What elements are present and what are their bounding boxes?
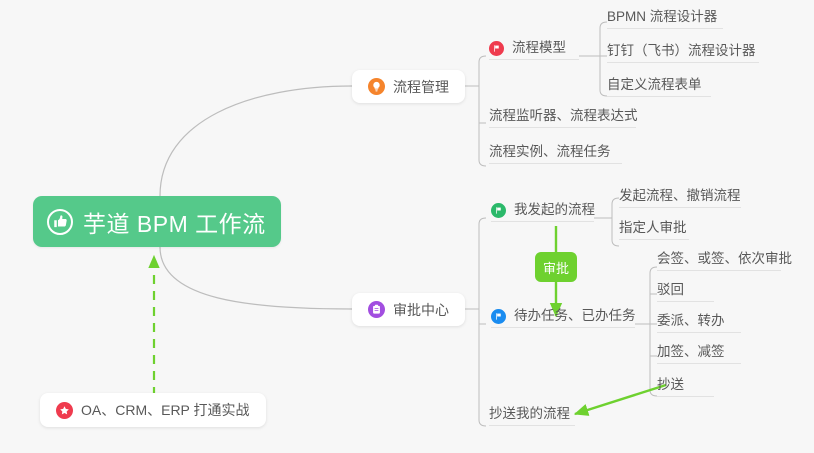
node-process-listener[interactable]: 流程监听器、流程表达式: [489, 106, 636, 128]
spine-cap-model-top: [600, 22, 607, 28]
node-cc[interactable]: 抄送: [657, 375, 714, 397]
node-label-process-listener: 流程监听器、流程表达式: [489, 104, 638, 124]
node-reject[interactable]: 驳回: [657, 280, 714, 302]
spine-cap-ac-top: [479, 218, 486, 224]
node-label-todo-done-tasks: 待办任务、已办任务: [514, 304, 636, 324]
flag-icon: [491, 203, 506, 218]
branch-node-approval-center[interactable]: 审批中心: [352, 293, 465, 326]
tag-approval[interactable]: 审批: [535, 252, 577, 282]
node-label-add-remove-sign: 加签、减签: [657, 340, 725, 360]
branch-label-process-management: 流程管理: [393, 77, 449, 97]
node-cc-my-process[interactable]: 抄送我的流程: [489, 404, 575, 426]
node-label-cc: 抄送: [657, 373, 684, 393]
spine-cap-todo-top: [650, 267, 657, 273]
node-label-multi-sign: 会签、或签、依次审批: [657, 247, 792, 267]
node-bpmn-designer[interactable]: BPMN 流程设计器: [607, 7, 723, 29]
spine-cap-mi-bottom: [612, 240, 619, 246]
node-custom-form[interactable]: 自定义流程表单: [607, 75, 711, 97]
branch-label-approval-center: 审批中心: [393, 300, 449, 320]
flag-icon: [489, 41, 504, 56]
node-label-assignee-approval: 指定人审批: [619, 216, 687, 236]
node-delegate-transfer[interactable]: 委派、转办: [657, 311, 741, 333]
node-label-process-model: 流程模型: [512, 36, 566, 56]
node-label-delegate-transfer: 委派、转办: [657, 309, 725, 329]
clipboard-icon: [368, 301, 385, 318]
root-label: 芋道 BPM 工作流: [83, 205, 266, 239]
spine-cap-todo-bottom: [650, 390, 657, 396]
node-label-cc-my-process: 抄送我的流程: [489, 402, 570, 422]
spine-cap-pm-top: [479, 56, 486, 62]
node-label-custom-form: 自定义流程表单: [607, 73, 702, 93]
node-label-process-instance: 流程实例、流程任务: [489, 140, 611, 160]
node-label-my-initiated-process: 我发起的流程: [514, 198, 595, 218]
node-todo-done-tasks[interactable]: 待办任务、已办任务: [491, 306, 635, 328]
node-my-initiated-process[interactable]: 我发起的流程: [491, 200, 594, 222]
arrow-cc-to-cc-my-process: [575, 385, 666, 414]
link-root-to-approval-center: [160, 247, 352, 309]
node-label-start-cancel-process: 发起流程、撤销流程: [619, 184, 741, 204]
spine-cap-ac-bottom: [479, 420, 486, 426]
mindmap-canvas: 芋道 BPM 工作流 流程管理 审批中心: [0, 0, 814, 453]
spine-cap-model-bottom: [600, 90, 607, 96]
footer-node-label: OA、CRM、ERP 打通实战: [81, 400, 250, 420]
star-icon: [56, 402, 73, 419]
branch-node-process-management[interactable]: 流程管理: [352, 70, 465, 103]
node-assignee-approval[interactable]: 指定人审批: [619, 218, 689, 240]
node-label-dingtalk-designer: 钉钉（飞书）流程设计器: [607, 39, 756, 59]
node-process-model[interactable]: 流程模型: [489, 38, 579, 60]
node-process-instance[interactable]: 流程实例、流程任务: [489, 142, 622, 164]
spine-cap-pm-bottom: [479, 160, 486, 166]
node-add-remove-sign[interactable]: 加签、减签: [657, 342, 741, 364]
link-root-to-process-management: [160, 86, 352, 196]
tag-label-approval: 审批: [543, 258, 569, 277]
node-multi-sign[interactable]: 会签、或签、依次审批: [657, 249, 781, 271]
node-start-cancel-process[interactable]: 发起流程、撤销流程: [619, 186, 741, 208]
footer-node-integration[interactable]: OA、CRM、ERP 打通实战: [40, 393, 266, 427]
flag-icon: [491, 309, 506, 324]
spine-cap-mi-top: [612, 198, 619, 204]
root-node[interactable]: 芋道 BPM 工作流: [33, 196, 281, 247]
node-label-reject: 驳回: [657, 278, 684, 298]
node-dingtalk-designer[interactable]: 钉钉（飞书）流程设计器: [607, 41, 759, 63]
thumbs-up-icon: [47, 209, 73, 235]
lightbulb-icon: [368, 78, 385, 95]
node-label-bpmn-designer: BPMN 流程设计器: [607, 5, 717, 25]
